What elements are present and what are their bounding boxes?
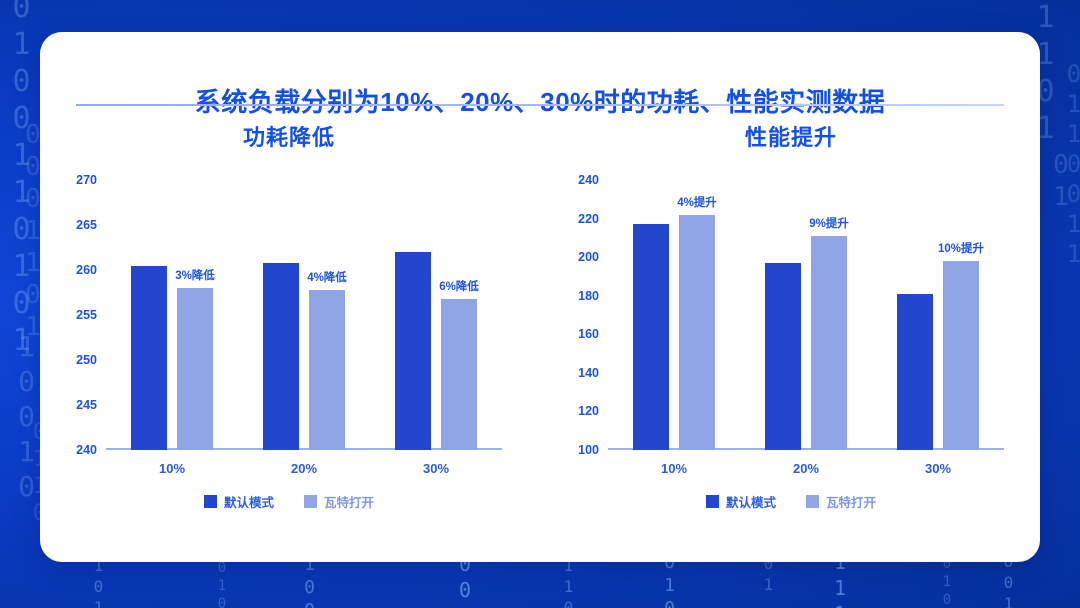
content-card: 系统负载分别为10%、20%、30%时的功耗、性能实测数据 功耗降低 24024… [40, 32, 1040, 562]
bar-primary[interactable] [131, 266, 167, 451]
y-axis-tick: 160 [578, 327, 599, 341]
legend-swatch-primary-icon [204, 495, 217, 508]
legend-swatch-primary-icon [706, 495, 719, 508]
bar-secondary[interactable]: 3%降低 [177, 288, 213, 450]
page-title: 系统负载分别为10%、20%、30%时的功耗、性能实测数据 [40, 82, 1040, 119]
y-axis-tick: 100 [578, 443, 599, 457]
x-axis-tick: 20% [291, 461, 317, 476]
bar-value-label: 9%提升 [809, 215, 849, 231]
slide-root: 0100110101000110101100011100110010011011… [0, 0, 1080, 608]
x-axis-tick: 10% [159, 461, 185, 476]
bar-primary[interactable] [263, 263, 299, 450]
y-axis-tick: 120 [578, 404, 599, 418]
y-axis-tick: 200 [578, 250, 599, 264]
plot-area-power: 2402452502552602652703%降低10%4%降低20%6%降低3… [106, 180, 502, 450]
y-axis-tick: 240 [76, 443, 97, 457]
bar-group: 6%降低30% [395, 180, 477, 450]
legend-label-primary: 默认模式 [726, 492, 776, 511]
legend-item-primary[interactable]: 默认模式 [204, 492, 274, 511]
binary-digit-column: 0101 [940, 556, 954, 608]
chart-panel-power: 功耗降低 2402452502552602652703%降低10%4%降低20%… [54, 120, 524, 540]
y-axis-tick: 220 [578, 212, 599, 226]
plot-area-performance: 1001201401601802002202404%提升10%9%提升20%10… [608, 180, 1004, 450]
y-axis-tick: 245 [76, 398, 97, 412]
bar-secondary[interactable]: 6%降低 [441, 299, 477, 450]
y-axis-tick: 250 [76, 353, 97, 367]
binary-digit-column: 0110011 [1062, 60, 1080, 270]
bar-primary[interactable] [765, 263, 801, 450]
legend-item-secondary[interactable]: 瓦特打开 [806, 492, 876, 511]
bar-value-label: 6%降低 [439, 278, 479, 294]
chart-legend-performance: 默认模式 瓦特打开 [556, 492, 1026, 511]
x-axis-tick: 20% [793, 461, 819, 476]
binary-digit-column: 0100 [215, 560, 229, 608]
binary-digit-column: 01 [1048, 150, 1074, 214]
y-axis-tick: 140 [578, 366, 599, 380]
y-axis-tick: 265 [76, 218, 97, 232]
legend-label-secondary: 瓦特打开 [826, 492, 876, 511]
bar-value-label: 4%提升 [677, 194, 717, 210]
bar-value-label: 3%降低 [175, 267, 215, 283]
legend-item-primary[interactable]: 默认模式 [706, 492, 776, 511]
bar-secondary[interactable]: 9%提升 [811, 236, 847, 450]
binary-digit-column: 1001 [300, 554, 318, 608]
legend-swatch-secondary-icon [304, 495, 317, 508]
bar-primary[interactable] [395, 252, 431, 450]
y-axis-tick: 260 [76, 263, 97, 277]
legend-label-secondary: 瓦特打开 [324, 492, 374, 511]
y-axis-tick: 240 [578, 173, 599, 187]
y-axis-tick: 255 [76, 308, 97, 322]
bar-value-label: 10%提升 [938, 240, 984, 256]
bar-group: 4%提升10% [633, 180, 715, 450]
y-axis-tick: 270 [76, 173, 97, 187]
bar-group: 4%降低20% [263, 180, 345, 450]
bar-secondary[interactable]: 10%提升 [943, 261, 979, 450]
bar-secondary[interactable]: 4%降低 [309, 290, 345, 450]
chart-legend-power: 默认模式 瓦特打开 [54, 492, 524, 511]
chart-title-performance: 性能提升 [556, 120, 1026, 152]
bar-primary[interactable] [897, 294, 933, 450]
chart-title-power: 功耗降低 [54, 120, 524, 152]
x-axis-tick: 30% [925, 461, 951, 476]
x-axis-tick: 10% [661, 461, 687, 476]
binary-digit-column: 110 [560, 556, 576, 608]
bar-value-label: 4%降低 [307, 269, 347, 285]
binary-digit-column: 10010 [12, 330, 40, 505]
y-axis-tick: 180 [578, 289, 599, 303]
chart-panel-performance: 性能提升 1001201401601802002202404%提升10%9%提升… [556, 120, 1026, 540]
legend-label-primary: 默认模式 [224, 492, 274, 511]
legend-swatch-secondary-icon [806, 495, 819, 508]
bar-group: 9%提升20% [765, 180, 847, 450]
x-axis-tick: 30% [423, 461, 449, 476]
bar-secondary[interactable]: 4%提升 [679, 215, 715, 450]
bar-primary[interactable] [633, 224, 669, 450]
title-divider [76, 104, 1004, 106]
binary-digit-column: 1010 [90, 556, 106, 608]
binary-digit-column: 0100110101 [6, 0, 36, 360]
bar-group: 3%降低10% [131, 180, 213, 450]
bar-group: 10%提升30% [897, 180, 979, 450]
legend-item-secondary[interactable]: 瓦特打开 [304, 492, 374, 511]
